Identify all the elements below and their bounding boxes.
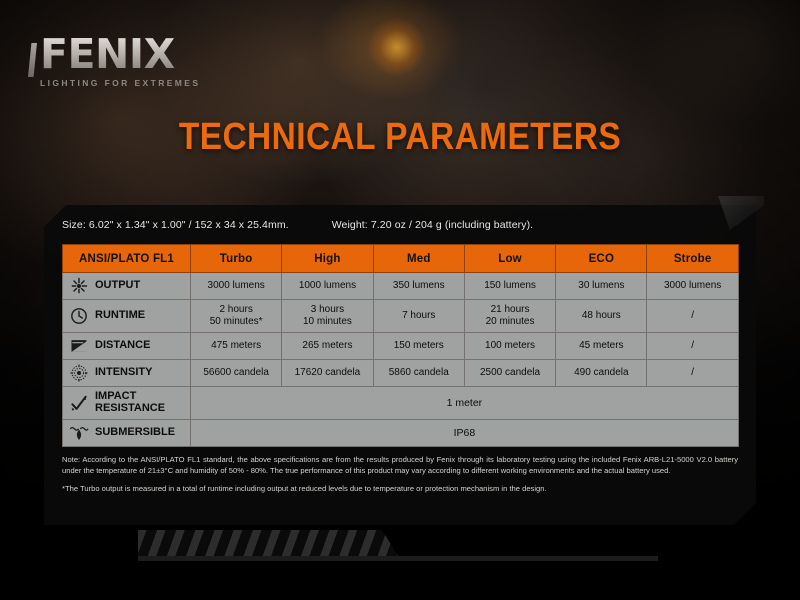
page-title: TECHNICAL PARAMETERS	[48, 116, 752, 159]
table-cell-spanning: IP68	[191, 420, 739, 447]
row-label-distance: DISTANCE	[63, 333, 191, 360]
table-cell-spanning: 1 meter	[191, 387, 739, 420]
impact-resistance-icon	[69, 393, 89, 413]
table-row: IMPACTRESISTANCE1 meter	[63, 387, 739, 420]
notes-block: Note: According to the ANSI/PLATO FL1 st…	[62, 455, 738, 494]
table-cell: 7 hours	[373, 300, 464, 333]
intensity-target-icon	[69, 363, 89, 383]
table-cell: 150 meters	[373, 333, 464, 360]
fenix-logo: FENIX LIGHTING FOR EXTREMES	[28, 34, 248, 88]
table-header-mode-low: Low	[464, 245, 555, 273]
table-row: DISTANCE475 meters265 meters150 meters10…	[63, 333, 739, 360]
table-cell: 30 lumens	[556, 273, 647, 300]
table-cell: 5860 candela	[373, 360, 464, 387]
table-cell: 475 meters	[191, 333, 282, 360]
table-header-mode-high: High	[282, 245, 373, 273]
table-cell: 100 meters	[464, 333, 555, 360]
technical-parameters-table: ANSI/PLATO FL1TurboHighMedLowECOStrobe O…	[62, 244, 739, 447]
weight-text: Weight: 7.20 oz / 204 g (including batte…	[332, 219, 534, 231]
row-label-text: DISTANCE	[95, 340, 150, 352]
table-cell: 17620 candela	[282, 360, 373, 387]
table-header-mode-strobe: Strobe	[647, 245, 738, 273]
clock-icon	[69, 306, 89, 326]
size-weight-line: Size: 6.02" x 1.34" x 1.00" / 152 x 34 x…	[62, 219, 533, 231]
table-cell: /	[647, 300, 738, 333]
table-cell: 3 hours10 minutes	[282, 300, 373, 333]
table-body: OUTPUT3000 lumens1000 lumens350 lumens15…	[63, 273, 739, 447]
table-cell: 45 meters	[556, 333, 647, 360]
row-label-intensity: INTENSITY	[63, 360, 191, 387]
row-label-output: OUTPUT	[63, 273, 191, 300]
row-label-submersible: SUBMERSIBLE	[63, 420, 191, 447]
table-header-mode-turbo: Turbo	[191, 245, 282, 273]
table-row: INTENSITY56600 candela17620 candela5860 …	[63, 360, 739, 387]
beam-distance-icon	[69, 336, 89, 356]
table-header-mode-med: Med	[373, 245, 464, 273]
table-cell: /	[647, 333, 738, 360]
table-cell: 350 lumens	[373, 273, 464, 300]
table-header-mode-eco: ECO	[556, 245, 647, 273]
brand-name: FENIX	[40, 34, 175, 75]
table-cell: 265 meters	[282, 333, 373, 360]
row-label-text: IMPACTRESISTANCE	[95, 391, 165, 415]
table-row: SUBMERSIBLEIP68	[63, 420, 739, 447]
note-asterisk: *The Turbo output is measured in a total…	[62, 484, 738, 495]
table-cell: 2500 candela	[464, 360, 555, 387]
table-cell: /	[647, 360, 738, 387]
slide-canvas: FENIX LIGHTING FOR EXTREMES TECHNICAL PA…	[0, 0, 800, 600]
note-main: Note: According to the ANSI/PLATO FL1 st…	[62, 455, 738, 477]
table-cell: 150 lumens	[464, 273, 555, 300]
table-row: OUTPUT3000 lumens1000 lumens350 lumens15…	[63, 273, 739, 300]
hazard-stripes-decoration	[138, 530, 398, 556]
row-label-runtime: RUNTIME	[63, 300, 191, 333]
table-row: RUNTIME2 hours50 minutes*3 hours10 minut…	[63, 300, 739, 333]
table-header-row: ANSI/PLATO FL1TurboHighMedLowECOStrobe	[63, 245, 739, 273]
table-cell: 48 hours	[556, 300, 647, 333]
table-cell: 3000 lumens	[647, 273, 738, 300]
bottom-accent-bar	[138, 556, 658, 561]
table-cell: 2 hours50 minutes*	[191, 300, 282, 333]
brand-tagline: LIGHTING FOR EXTREMES	[40, 78, 248, 88]
logo-wordmark: FENIX	[28, 34, 248, 75]
table-header: ANSI/PLATO FL1TurboHighMedLowECOStrobe	[63, 245, 739, 273]
table-cell: 490 candela	[556, 360, 647, 387]
size-text: Size: 6.02" x 1.34" x 1.00" / 152 x 34 x…	[62, 219, 289, 231]
row-label-text: SUBMERSIBLE	[95, 427, 175, 439]
light-burst-icon	[69, 276, 89, 296]
row-label-impact-resistance: IMPACTRESISTANCE	[63, 387, 191, 420]
row-label-text: OUTPUT	[95, 280, 140, 292]
specs-panel: Size: 6.02" x 1.34" x 1.00" / 152 x 34 x…	[44, 205, 756, 525]
row-label-text: INTENSITY	[95, 367, 152, 379]
logo-i-mark-icon	[28, 43, 37, 77]
table-cell: 3000 lumens	[191, 273, 282, 300]
table-header-standard: ANSI/PLATO FL1	[63, 245, 191, 273]
table-cell: 1000 lumens	[282, 273, 373, 300]
table-cell: 21 hours20 minutes	[464, 300, 555, 333]
row-label-text: RUNTIME	[95, 310, 145, 322]
table-cell: 56600 candela	[191, 360, 282, 387]
submersible-icon	[69, 423, 89, 443]
